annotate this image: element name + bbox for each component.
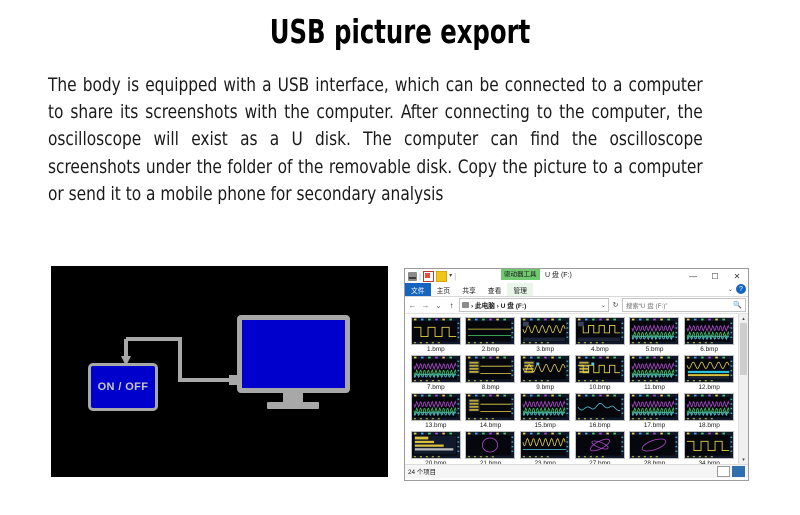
file-thumbnail[interactable] bbox=[629, 393, 679, 421]
breadcrumb[interactable]: › 此电脑 › U 盘 (F:) bbox=[471, 300, 526, 310]
thumbnail-view-icon[interactable] bbox=[732, 466, 745, 477]
file-thumbnail[interactable] bbox=[465, 393, 515, 421]
ribbon-controls[interactable]: ⌄ ? bbox=[728, 284, 746, 294]
file-name-label: 4.bmp bbox=[591, 346, 609, 353]
connection-diagram: ON / OFF bbox=[51, 266, 388, 477]
file-item[interactable]: 17.bmp bbox=[628, 393, 682, 429]
file-thumbnail[interactable] bbox=[575, 393, 625, 421]
title-bar: | ▾ | 驱动器工具 U 盘 (F:) — ☐ ✕ bbox=[405, 269, 748, 283]
file-thumbnail[interactable] bbox=[411, 431, 461, 459]
file-thumbnail[interactable] bbox=[411, 355, 461, 383]
file-thumbnail[interactable] bbox=[520, 317, 570, 345]
file-thumbnail[interactable] bbox=[575, 355, 625, 383]
address-input[interactable]: › 此电脑 › U 盘 (F:) ⌄ bbox=[459, 298, 609, 312]
chevron-down-icon-address[interactable]: ⌄ bbox=[601, 302, 606, 309]
minimize-button[interactable]: — bbox=[682, 269, 704, 283]
oscilloscope-device[interactable]: ON / OFF bbox=[88, 363, 158, 411]
file-name-label: 17.bmp bbox=[644, 422, 665, 429]
file-thumbnail[interactable] bbox=[411, 393, 461, 421]
file-item[interactable]: 15.bmp bbox=[518, 393, 572, 429]
tab-file[interactable]: 文件 bbox=[405, 283, 431, 296]
file-item[interactable]: 10.bmp bbox=[573, 355, 627, 391]
refresh-icon[interactable]: ↻ bbox=[611, 301, 620, 309]
file-name-label: 11.bmp bbox=[644, 384, 665, 391]
file-item[interactable]: 27.bmp bbox=[573, 431, 627, 464]
file-name-label: 1.bmp bbox=[427, 346, 445, 353]
file-thumbnail[interactable] bbox=[520, 393, 570, 421]
file-thumbnail[interactable] bbox=[684, 355, 734, 383]
file-thumbnail[interactable] bbox=[465, 355, 515, 383]
file-name-label: 15.bmp bbox=[535, 422, 556, 429]
file-thumbnail[interactable] bbox=[411, 317, 461, 345]
window-title: U 盘 (F:) bbox=[545, 270, 572, 280]
page-title: USB picture export bbox=[72, 12, 728, 51]
file-item[interactable]: 9.bmp bbox=[518, 355, 572, 391]
view-mode-buttons[interactable] bbox=[717, 466, 745, 477]
tab-view[interactable]: 查看 bbox=[482, 283, 508, 296]
file-name-label: 7.bmp bbox=[427, 384, 445, 391]
file-name-label: 10.bmp bbox=[589, 384, 610, 391]
chevron-down-icon[interactable]: ▾ bbox=[449, 272, 452, 281]
scroll-up-icon[interactable]: ▴ bbox=[739, 314, 748, 323]
vertical-scrollbar[interactable]: ▴ ▾ bbox=[738, 314, 748, 464]
window-controls[interactable]: — ☐ ✕ bbox=[682, 269, 748, 283]
chevron-down-icon-ribbon[interactable]: ⌄ bbox=[728, 286, 733, 293]
file-item[interactable]: 12.bmp bbox=[682, 355, 736, 391]
file-item[interactable]: 3.bmp bbox=[518, 317, 572, 353]
forward-button[interactable]: → bbox=[420, 301, 431, 310]
file-item[interactable]: 5.bmp bbox=[628, 317, 682, 353]
file-thumbnail[interactable] bbox=[629, 431, 679, 459]
file-name-label: 6.bmp bbox=[700, 346, 718, 353]
recent-locations-button[interactable]: ⌄ bbox=[433, 301, 444, 310]
file-thumbnail[interactable] bbox=[684, 431, 734, 459]
drive-icon[interactable] bbox=[408, 272, 417, 281]
computer-monitor bbox=[237, 315, 350, 410]
drive-icon-address bbox=[462, 302, 469, 308]
file-item[interactable]: 2.bmp bbox=[464, 317, 518, 353]
file-thumbnail[interactable] bbox=[520, 431, 570, 459]
file-name-label: 13.bmp bbox=[425, 422, 446, 429]
file-item[interactable]: 16.bmp bbox=[573, 393, 627, 429]
ribbon-tabs[interactable]: 文件 主页 共享 查看 管理 ⌄ ? bbox=[405, 283, 748, 297]
file-name-label: 18.bmp bbox=[699, 422, 720, 429]
maximize-button[interactable]: ☐ bbox=[704, 269, 726, 283]
file-name-label: 2.bmp bbox=[482, 346, 500, 353]
file-thumbnail[interactable] bbox=[465, 317, 515, 345]
file-item[interactable]: 23.bmp bbox=[518, 431, 572, 464]
monitor-screen bbox=[242, 320, 345, 388]
file-name-label: 16.bmp bbox=[589, 422, 610, 429]
slide-page: USB picture export The body is equipped … bbox=[0, 0, 800, 515]
properties-icon[interactable] bbox=[423, 271, 434, 282]
qat-divider-2: | bbox=[454, 272, 456, 281]
file-item[interactable]: 8.bmp bbox=[464, 355, 518, 391]
file-item[interactable]: 14.bmp bbox=[464, 393, 518, 429]
file-item[interactable]: 21.bmp bbox=[464, 431, 518, 464]
quick-access-toolbar[interactable]: | ▾ | bbox=[405, 271, 456, 282]
search-placeholder: 搜索“U 盘 (F:)” bbox=[626, 301, 668, 310]
tab-manage[interactable]: 管理 bbox=[507, 283, 533, 296]
file-thumbnail[interactable] bbox=[575, 431, 625, 459]
monitor-foot bbox=[267, 402, 319, 409]
close-button[interactable]: ✕ bbox=[726, 269, 748, 283]
thumbnail-grid[interactable]: 1.bmp2.bmp3.bmp4.bmp5.bmp6.bmp7.bmp8.bmp… bbox=[405, 314, 738, 464]
address-bar-row: ← → ⌄ ↑ › 此电脑 › U 盘 (F:) ⌄ ↻ 搜索“U 盘 (F:)… bbox=[405, 297, 748, 314]
file-name-label: 5.bmp bbox=[646, 346, 664, 353]
tab-home[interactable]: 主页 bbox=[431, 283, 457, 296]
monitor-bezel bbox=[237, 315, 350, 393]
file-thumbnail[interactable] bbox=[684, 317, 734, 345]
file-item[interactable]: 20.bmp bbox=[409, 431, 463, 464]
file-name-label: 14.bmp bbox=[480, 422, 501, 429]
file-item[interactable]: 11.bmp bbox=[628, 355, 682, 391]
file-item[interactable]: 28.bmp bbox=[628, 431, 682, 464]
scrollbar-thumb[interactable] bbox=[740, 323, 747, 375]
up-button[interactable]: ↑ bbox=[446, 301, 457, 310]
file-thumbnail[interactable] bbox=[575, 317, 625, 345]
status-bar: 24 个项目 bbox=[405, 464, 748, 478]
onoff-label: ON / OFF bbox=[98, 381, 149, 393]
tab-share[interactable]: 共享 bbox=[456, 283, 482, 296]
file-name-label: 3.bmp bbox=[536, 346, 554, 353]
item-count-label: 24 个项目 bbox=[408, 467, 436, 476]
back-button[interactable]: ← bbox=[407, 301, 418, 310]
file-item[interactable]: 34.bmp bbox=[682, 431, 736, 464]
details-view-icon[interactable] bbox=[717, 466, 730, 477]
file-thumbnail[interactable] bbox=[520, 355, 570, 383]
qat-divider: | bbox=[419, 272, 421, 281]
folder-icon[interactable] bbox=[436, 271, 447, 282]
file-item[interactable]: 4.bmp bbox=[573, 317, 627, 353]
file-item[interactable]: 18.bmp bbox=[682, 393, 736, 429]
scroll-down-icon[interactable]: ▾ bbox=[739, 455, 748, 464]
file-list-area: 1.bmp2.bmp3.bmp4.bmp5.bmp6.bmp7.bmp8.bmp… bbox=[405, 314, 748, 464]
file-item[interactable]: 1.bmp bbox=[409, 317, 463, 353]
file-thumbnail[interactable] bbox=[465, 431, 515, 459]
search-input[interactable]: 搜索“U 盘 (F:)” 🔍 bbox=[622, 298, 746, 312]
file-name-label: 8.bmp bbox=[482, 384, 500, 391]
file-thumbnail[interactable] bbox=[629, 355, 679, 383]
contextual-tab-label: 驱动器工具 bbox=[501, 269, 540, 280]
file-name-label: 12.bmp bbox=[699, 384, 720, 391]
file-item[interactable]: 6.bmp bbox=[682, 317, 736, 353]
file-name-label: 9.bmp bbox=[536, 384, 554, 391]
file-thumbnail[interactable] bbox=[684, 393, 734, 421]
help-icon[interactable]: ? bbox=[736, 284, 746, 294]
file-item[interactable]: 7.bmp bbox=[409, 355, 463, 391]
file-thumbnail[interactable] bbox=[629, 317, 679, 345]
file-explorer-window: | ▾ | 驱动器工具 U 盘 (F:) — ☐ ✕ 文件 主页 共享 查看 管… bbox=[404, 268, 749, 481]
body-paragraph: The body is equipped with a USB interfac… bbox=[48, 72, 703, 208]
file-item[interactable]: 13.bmp bbox=[409, 393, 463, 429]
search-icon[interactable]: 🔍 bbox=[733, 301, 742, 309]
